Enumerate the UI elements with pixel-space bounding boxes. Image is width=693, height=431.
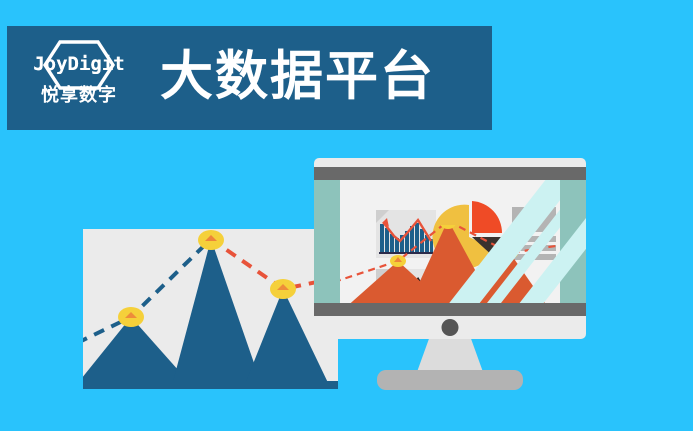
header-banner: JoyDigit 悦享数字 大数据平台	[7, 26, 492, 130]
desktop-monitor	[314, 158, 586, 339]
mountain-baseline	[83, 381, 338, 389]
data-point-marker	[118, 307, 144, 327]
brand-logo: JoyDigit 悦享数字	[20, 37, 138, 119]
data-point-marker	[270, 279, 296, 299]
data-point-marker	[440, 225, 456, 229]
left-mountain-chart	[83, 229, 338, 389]
monitor-stand-neck	[417, 339, 483, 372]
logo-wordmark: JoyDigit	[33, 55, 125, 74]
illustration-canvas: JoyDigit 悦享数字 大数据平台	[0, 0, 693, 431]
monitor-top-bar	[314, 167, 586, 180]
monitor-screen	[314, 180, 586, 316]
monitor-bottom-bar	[314, 303, 586, 316]
left-mountain-chart-panel	[83, 229, 338, 389]
data-point-marker	[390, 255, 406, 267]
screen-side-band-left	[314, 180, 340, 316]
mountain-shape-center	[171, 239, 263, 389]
data-point-marker	[198, 230, 224, 250]
monitor-stand-base	[377, 370, 523, 390]
logo-subtitle: 悦享数字	[41, 87, 117, 105]
webcam-indicator	[442, 319, 459, 336]
page-title: 大数据平台	[160, 50, 435, 103]
